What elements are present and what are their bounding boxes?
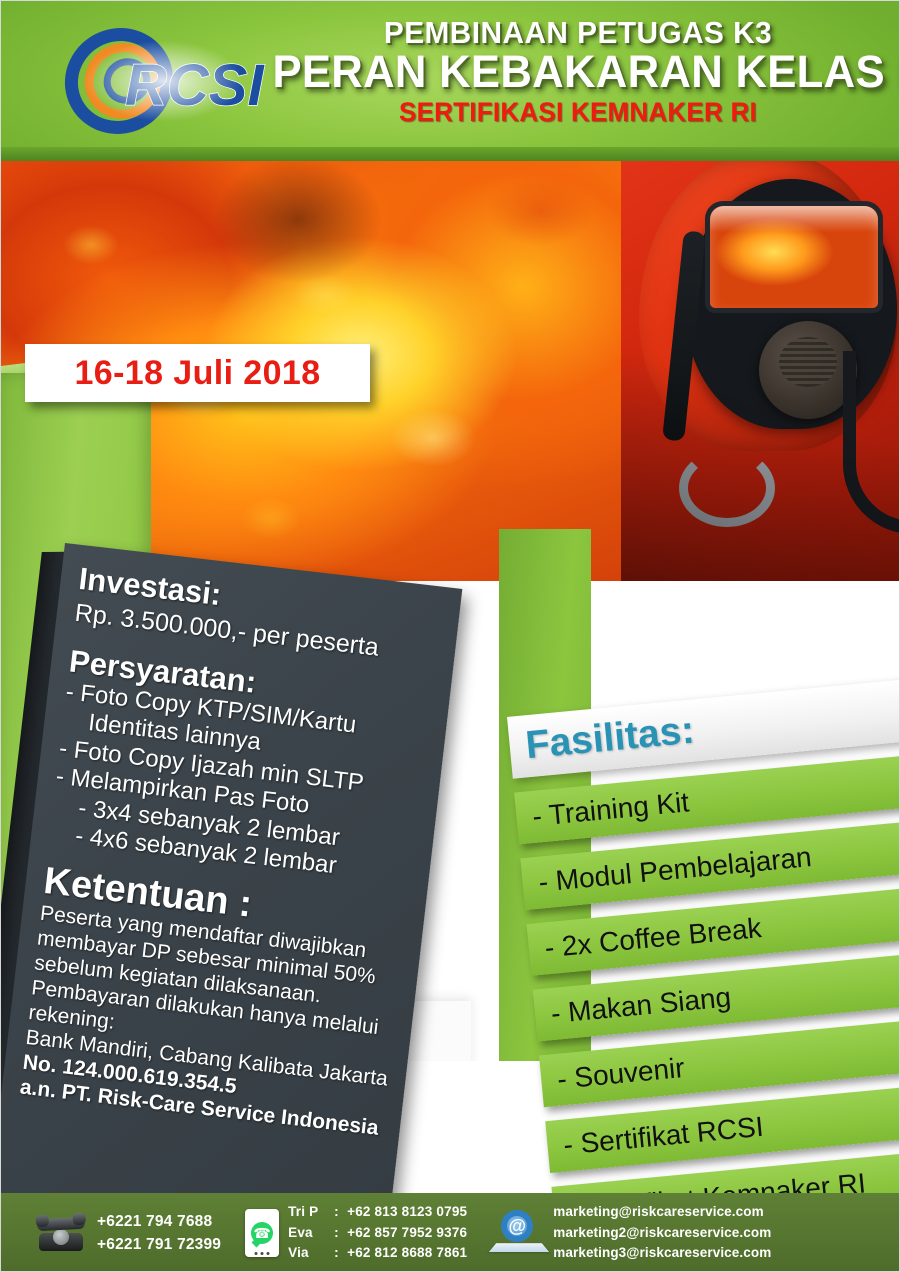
contact-separator: : [334,1223,347,1244]
contact-name: Eva [288,1223,334,1244]
fasilitas-item-label: - 2x Coffee Break [543,912,762,964]
whatsapp-contact: Via : +62 812 8688 7861 [288,1243,467,1264]
logo-glow [53,25,283,137]
fasilitas-item-label: - Sertifikat RCSI [562,1111,765,1162]
whatsapp-contact: Eva : +62 857 7952 9376 [288,1223,467,1244]
contact-name: Tri P [288,1202,334,1223]
firefighter-photo [621,161,900,581]
title-line-3: SERTIFIKASI KEMNAKER RI [276,97,881,128]
fasilitas-item-label: - Sertifikat Kemnaker RI [568,1167,867,1193]
contact-number: +62 812 8688 7861 [347,1243,467,1264]
contact-number: +62 813 8123 0795 [347,1202,467,1223]
firefighter-shading [621,161,900,581]
poster-body: 16-18 Juli 2018 Investasi: Rp. 3.500.000… [1,161,900,1193]
contact-separator: : [334,1243,347,1264]
phone-number-list: +6221 794 7688 +6221 791 72399 [97,1210,221,1257]
fasilitas-item-label: - Training Kit [531,786,690,833]
phone-number: +6221 794 7688 [97,1210,221,1233]
telephone-handset [37,1217,86,1231]
poster-footer: +6221 794 7688 +6221 791 72399 ☎ Tri P :… [1,1193,900,1272]
fasilitas-item-label: - Modul Pembelajaran [537,841,813,899]
header-titles: PEMBINAAN PETUGAS K3 PERAN KEBAKARAN KEL… [263,17,893,128]
phone-number: +6221 791 72399 [97,1233,221,1256]
email-address: marketing3@riskcareservice.com [553,1243,771,1264]
date-badge-text: 16-18 Juli 2018 [74,354,320,393]
fasilitas-item-label: - Souvenir [556,1052,686,1096]
title-line-2: PERAN KEBAKARAN KELAS D [272,48,883,95]
contact-separator: : [334,1202,347,1223]
rcsi-logo: RCSI [53,25,283,137]
email-address: marketing2@riskcareservice.com [553,1223,771,1244]
whatsapp-handset-glyph: ☎ [252,1223,272,1243]
fasilitas-item-label: - Makan Siang [550,981,733,1030]
email-address: marketing@riskcareservice.com [553,1202,771,1223]
telephone-dial [53,1229,69,1245]
contact-name: Via [288,1243,334,1264]
date-badge: 16-18 Juli 2018 [25,344,370,402]
footer-whatsapp-group: ☎ Tri P : +62 813 8123 0795 Eva : +62 85… [221,1202,467,1265]
whatsapp-home-dots [255,1252,270,1255]
info-panel-wrapper: Investasi: Rp. 3.500.000,- per peserta P… [1,543,462,1193]
info-panel: Investasi: Rp. 3.500.000,- per peserta P… [1,543,462,1193]
at-sign-glyph: @ [501,1210,533,1242]
poster-header: RCSI PEMBINAAN PETUGAS K3 PERAN KEBAKARA… [1,1,900,161]
whatsapp-phone-icon: ☎ [245,1209,279,1257]
email-list: marketing@riskcareservice.com marketing2… [553,1202,771,1265]
footer-email-group: @ marketing@riskcareservice.com marketin… [467,1202,771,1265]
fasilitas-panel: Fasilitas: - Training Kit - Modul Pembel… [507,679,900,1193]
whatsapp-contact: Tri P : +62 813 8123 0795 [288,1202,467,1223]
contact-number: +62 857 7952 9376 [347,1223,467,1244]
at-sign-email-icon: @ [493,1210,545,1256]
footer-phone-group: +6221 794 7688 +6221 791 72399 [35,1210,221,1257]
telephone-icon [35,1215,87,1251]
fasilitas-heading: Fasilitas: [524,709,696,769]
email-plate [489,1243,549,1252]
whatsapp-contact-list: Tri P : +62 813 8123 0795 Eva : +62 857 … [288,1202,467,1265]
training-poster: RCSI PEMBINAAN PETUGAS K3 PERAN KEBAKARA… [0,0,900,1272]
